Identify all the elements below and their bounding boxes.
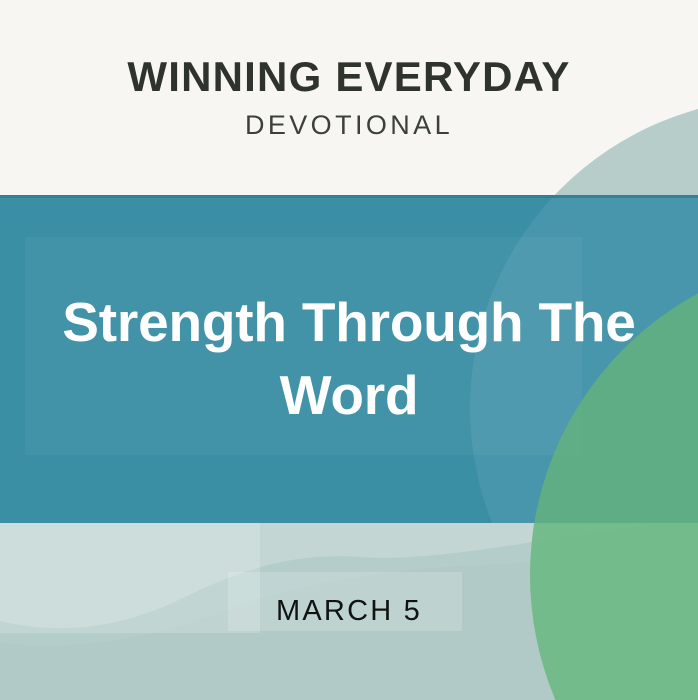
header-text-block: WINNING EVERYDAY DEVOTIONAL [0,0,698,195]
brand-subtitle: DEVOTIONAL [245,112,453,139]
devotional-date: MARCH 5 [276,595,422,628]
devotional-title: Strength Through The Word [0,286,698,432]
footer-date-block: MARCH 5 [0,523,698,700]
main-title-block: Strength Through The Word [0,195,698,523]
brand-title: WINNING EVERYDAY [127,56,570,98]
devotional-poster: WINNING EVERYDAY DEVOTIONAL Strength Thr… [0,0,698,700]
